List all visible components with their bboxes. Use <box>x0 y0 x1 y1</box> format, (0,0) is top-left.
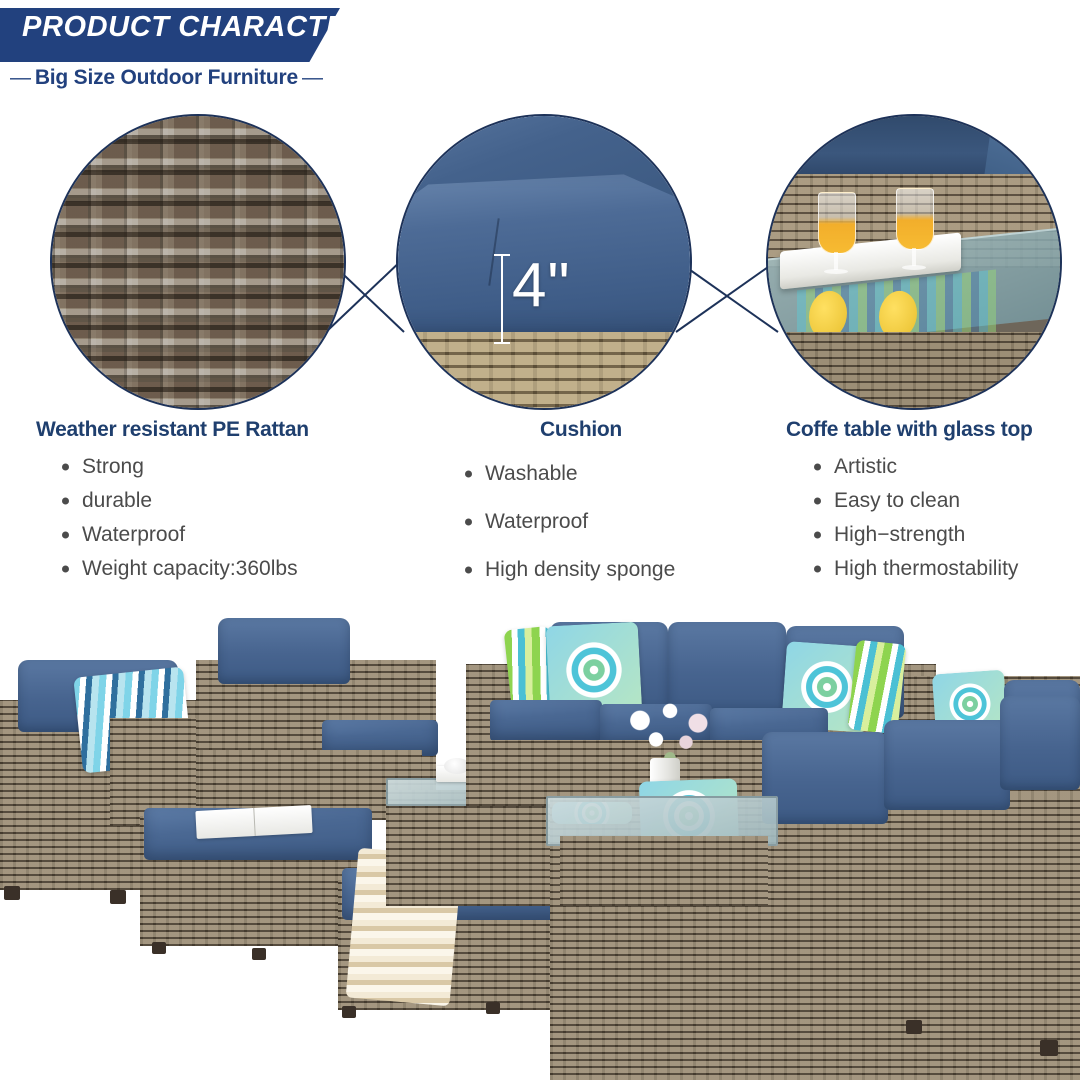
armchair-left-leg <box>4 886 20 900</box>
glass-stem <box>912 248 916 266</box>
header: PRODUCT CHARACTER —Big Size Outdoor Furn… <box>0 0 1080 100</box>
list-item: Artistic <box>810 450 1076 484</box>
glass-foot <box>824 269 848 274</box>
feature-title-coffee-table: Coffe table with glass top <box>786 418 1076 442</box>
cushion-crease <box>489 219 500 286</box>
feature-bullets-rattan: Strong durable Waterproof Weight capacit… <box>36 450 376 586</box>
scene-wicker-table-base <box>766 332 1062 410</box>
sectional-leg-4 <box>906 1020 922 1034</box>
coffee-table-front-base <box>560 836 768 906</box>
cushion-closeup-scene: 4" <box>398 116 690 408</box>
ottoman-front-leg <box>252 948 266 960</box>
feature-column-cushion: Cushion Washable Waterproof High density… <box>455 418 755 594</box>
scene-juice-glass-1 <box>818 192 854 278</box>
cushion-wicker-base <box>396 332 692 410</box>
coffee-table-small-base <box>386 790 562 906</box>
sofa-seat-cushion-1 <box>490 700 602 742</box>
ottoman-second-leg <box>486 1002 500 1014</box>
list-item: Weight capacity:360lbs <box>58 552 376 586</box>
list-item: High density sponge <box>461 546 755 594</box>
glass-foot <box>902 265 926 270</box>
rattan-weave-overlay <box>50 114 346 410</box>
glass-bowl <box>818 192 856 254</box>
ottoman-front-leg <box>152 942 166 954</box>
list-item: Waterproof <box>461 498 755 546</box>
feature-title-rattan: Weather resistant PE Rattan <box>36 418 376 442</box>
subtitle-text: Big Size Outdoor Furniture <box>35 66 298 89</box>
product-photo <box>0 600 1080 1080</box>
feature-image-circles: 4" <box>0 110 1080 420</box>
sectional-leg-3 <box>1040 1040 1058 1056</box>
feature-text-columns: Weather resistant PE Rattan Strong durab… <box>0 418 1080 598</box>
dimension-arrow-icon <box>501 254 503 344</box>
feature-circle-cushion: 4" <box>396 114 692 410</box>
sectional-front-backrest-1 <box>762 732 888 824</box>
feature-title-cushion: Cushion <box>455 418 755 442</box>
feature-bullets-coffee-table: Artistic Easy to clean High−strength Hig… <box>786 450 1076 586</box>
list-item: High−strength <box>810 518 1076 552</box>
feature-column-rattan: Weather resistant PE Rattan Strong durab… <box>36 418 376 586</box>
list-item: Washable <box>461 450 755 498</box>
ottoman-second-leg <box>342 1006 356 1018</box>
feature-bullets-cushion: Washable Waterproof High density sponge <box>455 450 755 594</box>
list-item: Waterproof <box>58 518 376 552</box>
feature-column-coffee-table: Coffe table with glass top Artistic Easy… <box>786 418 1076 586</box>
list-item: Easy to clean <box>810 484 1076 518</box>
scene-juice-glass-2 <box>896 188 932 274</box>
glass-stem <box>834 252 838 270</box>
list-item: Strong <box>58 450 376 484</box>
rattan-weave-texture <box>52 116 344 408</box>
armchair-left-leg <box>110 890 126 904</box>
armchair-right-backrest <box>218 618 350 684</box>
sectional-front-backrest-3 <box>1000 696 1080 790</box>
glass-bowl <box>896 188 934 250</box>
page-subtitle: —Big Size Outdoor Furniture— <box>6 66 327 90</box>
cushion-thickness-label: 4" <box>512 255 571 317</box>
subtitle-dash-right: — <box>298 66 327 90</box>
subtitle-dash-left: — <box>6 66 35 90</box>
feature-circle-rattan <box>50 114 346 410</box>
list-item: durable <box>58 484 376 518</box>
sectional-front-backrest-2 <box>884 720 1010 810</box>
coffee-table-scene <box>768 116 1060 408</box>
list-item: High thermostability <box>810 552 1076 586</box>
page-title: PRODUCT CHARACTER <box>22 11 367 44</box>
feature-circle-coffee-table <box>766 114 1062 410</box>
